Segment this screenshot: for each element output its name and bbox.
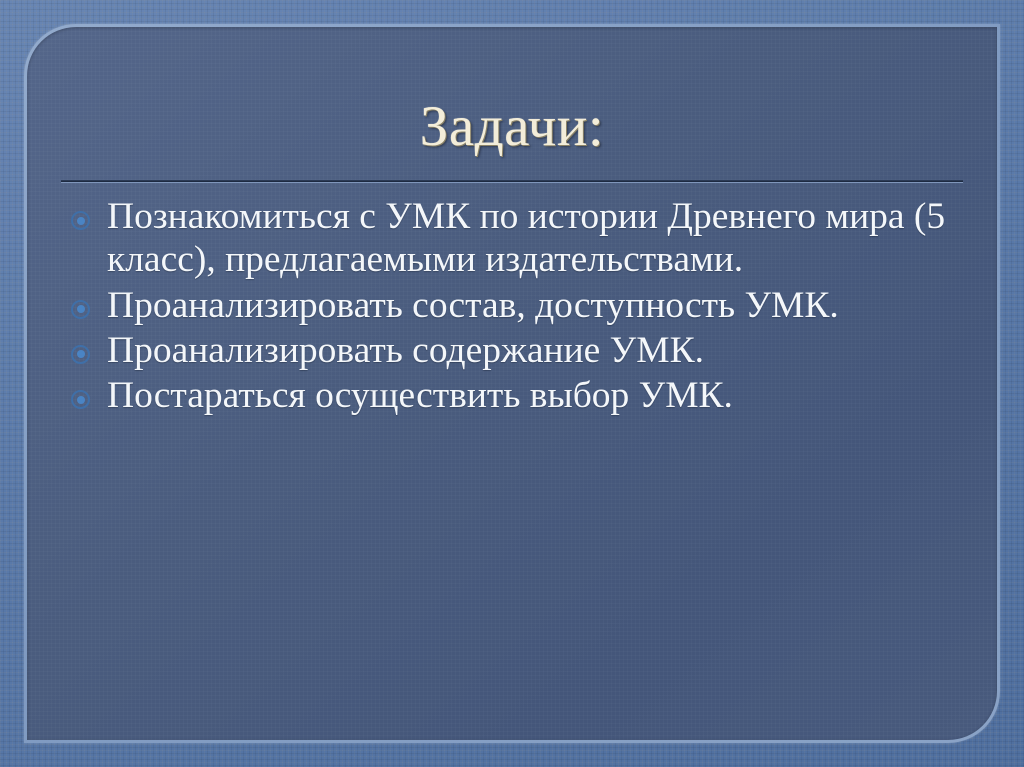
- list-item: Постараться осуществить выбор УМК.: [59, 374, 969, 417]
- list-item-label: Постараться осуществить выбор УМК.: [107, 375, 733, 416]
- list-item-label: Проанализировать состав, доступность УМК…: [107, 285, 839, 326]
- slide-content-panel: Задачи: Познакомиться с УМК по истории Д…: [27, 27, 997, 740]
- list-item-label: Проанализировать содержание УМК.: [107, 330, 704, 371]
- target-bullet-icon: [71, 211, 90, 230]
- title-divider: [61, 180, 963, 183]
- presentation-slide: Задачи: Познакомиться с УМК по истории Д…: [0, 0, 1024, 767]
- list-item: Проанализировать состав, доступность УМК…: [59, 284, 969, 327]
- target-bullet-icon: [71, 345, 90, 364]
- title-area: Задачи:: [61, 67, 963, 185]
- target-bullet-icon: [71, 390, 90, 409]
- list-item: Проанализировать содержание УМК.: [59, 329, 969, 372]
- bullet-list: Познакомиться с УМК по истории Древнего …: [59, 195, 969, 418]
- list-item: Познакомиться с УМК по истории Древнего …: [59, 195, 969, 282]
- slide-title: Задачи:: [61, 67, 963, 157]
- list-item-label: Познакомиться с УМК по истории Древнего …: [107, 196, 945, 280]
- slide-body: Познакомиться с УМК по истории Древнего …: [59, 195, 969, 720]
- target-bullet-icon: [71, 300, 90, 319]
